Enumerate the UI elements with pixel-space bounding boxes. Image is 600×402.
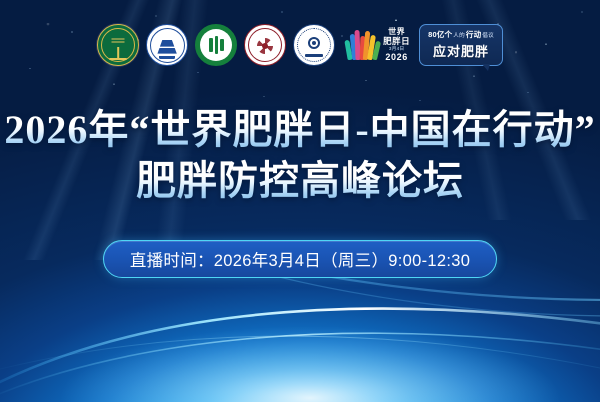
badge-main-slogan: 应对肥胖 (433, 41, 489, 60)
wod-line4: 2026 (385, 53, 407, 62)
navy-academy-crest (293, 24, 335, 66)
badge-top-line: 80亿个人的行动倡议 (428, 29, 494, 40)
wod-line1: 世界 (388, 28, 405, 36)
world-obesity-day-ribbon-icon (346, 28, 380, 62)
badge-small: 人的 (453, 31, 465, 39)
campaign-slogan-badge: 80亿个人的行动倡议 应对肥胖 (419, 24, 503, 66)
badge-tail: 倡议 (482, 31, 494, 39)
poster-title-block: 2026年“世界肥胖日-中国在行动” 肥胖防控高峰论坛 (0, 108, 600, 204)
wod-line2: 肥胖日 (383, 37, 410, 46)
schedule-pill-wrap: 直播时间：2026年3月4日（周三）9:00-12:30 (0, 240, 600, 278)
partner-logo-band: 世界 肥胖日 3月4日 2026 80亿个人的行动倡议 应对肥胖 (0, 24, 600, 66)
world-obesity-day-logo: 世界 肥胖日 3月4日 2026 (346, 28, 410, 62)
title-line-1: 2026年“世界肥胖日-中国在行动” (0, 108, 600, 153)
poster-canvas: 世界 肥胖日 3月4日 2026 80亿个人的行动倡议 应对肥胖 2026年“世… (0, 0, 600, 402)
maroon-medical-association-crest (244, 24, 286, 66)
badge-count: 80亿个 (428, 29, 452, 40)
live-time-pill: 直播时间：2026年3月4日（周三）9:00-12:30 (103, 240, 497, 278)
green-health-institute-crest (195, 24, 237, 66)
china-nutrition-society-crest (97, 24, 139, 66)
peking-university-crest (146, 24, 188, 66)
title-line-2: 肥胖防控高峰论坛 (0, 159, 600, 204)
badge-word: 行动 (466, 29, 481, 40)
